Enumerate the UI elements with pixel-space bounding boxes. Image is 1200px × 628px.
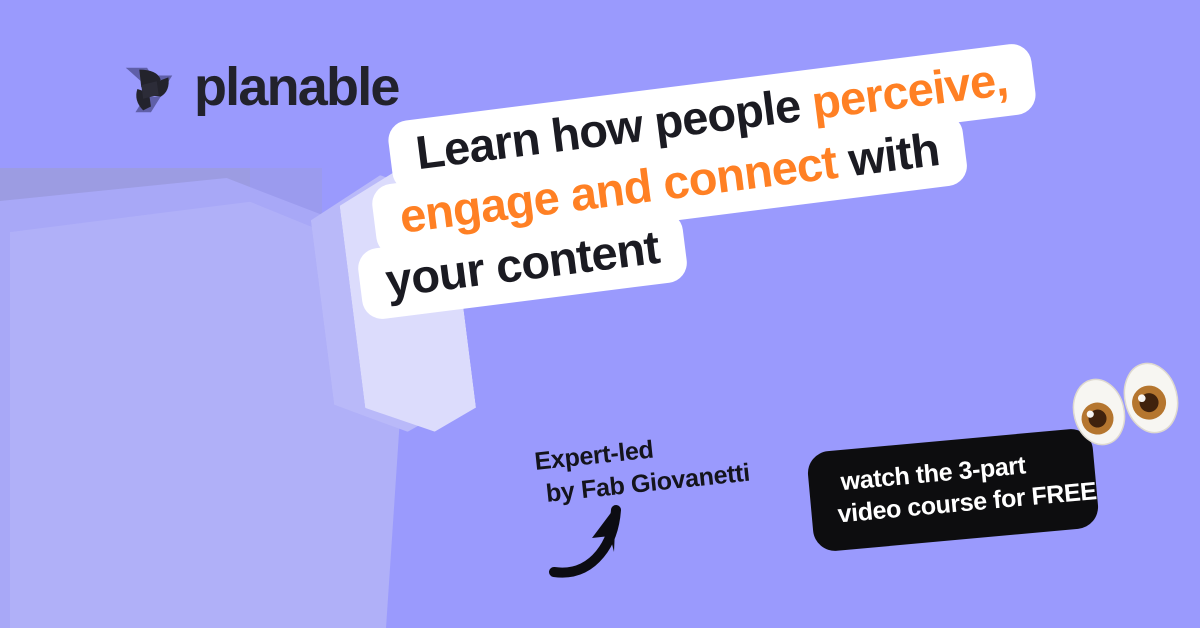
planable-wordmark: planable [194,60,399,114]
curved-up-arrow-icon [548,496,668,582]
planable-pinwheel-icon [118,58,180,120]
headline-line-2-plain: with [833,123,942,188]
promo-banner: planable Learn how people perceive, enga… [0,0,1200,628]
headline-block: Learn how people perceive, engage and co… [340,38,1077,311]
brand-logo-lockup[interactable]: planable [118,58,399,120]
headline-line-1-accent: perceive, [809,52,1011,129]
googly-eyes-icon [1059,360,1191,452]
cta-badge[interactable]: watch the 3-part video course for FREE [806,427,1100,553]
